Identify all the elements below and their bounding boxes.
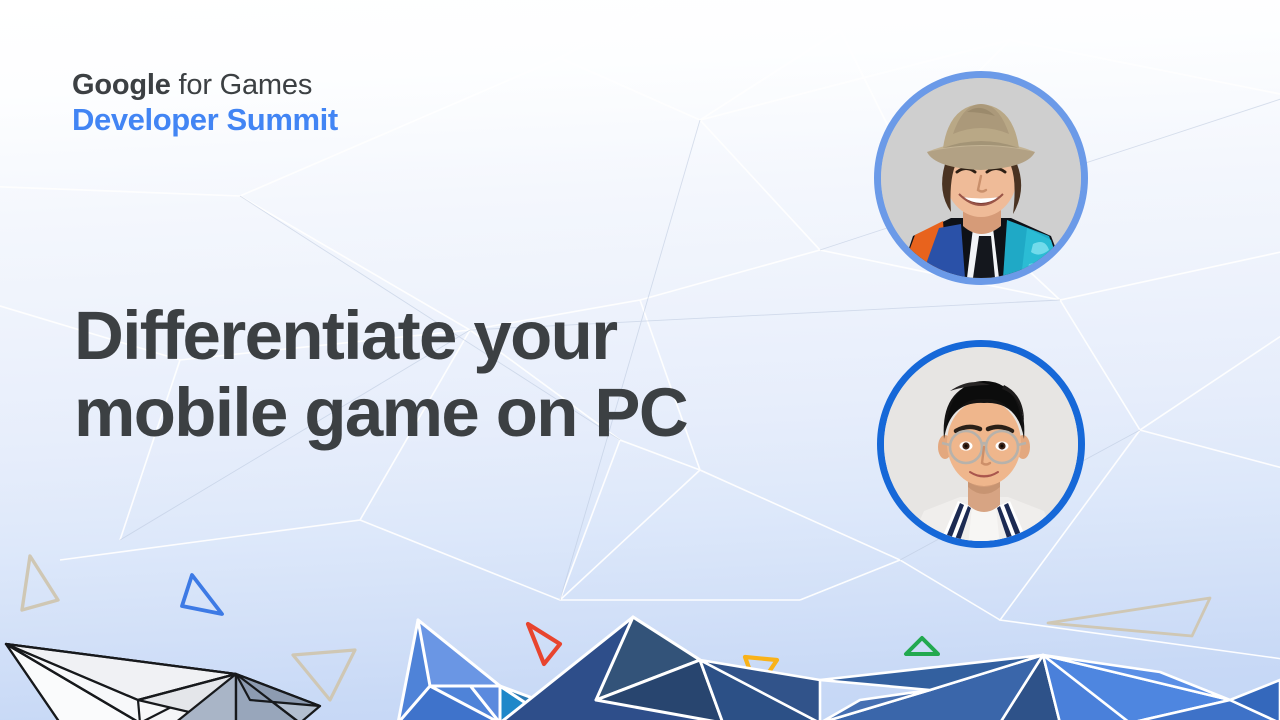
triangle-outline-beige-lower-left [293,650,355,700]
logo-word-google: Google [72,69,171,101]
avatar [874,71,1088,285]
logo-word-for-games: for Games [171,69,312,101]
triangle-outline-yellow [745,657,777,690]
page-title: Differentiate your mobile game on PC [74,298,714,451]
logo-line-developer-summit: Developer Summit [72,102,338,139]
event-logo: Google for Games Developer Summit [72,68,338,139]
polygon-mountain-white-edges [6,644,320,720]
polygon-mountain-blue-right [700,655,1280,720]
triangle-outline-green [906,638,938,654]
avatar [877,340,1085,548]
triangle-outline-red [528,624,560,664]
triangle-outline-beige-left [22,556,58,610]
polygon-mountain-blue-center [398,617,800,720]
triangle-outline-blue [182,575,222,614]
triangle-outline-beige-right [1048,598,1210,636]
polygon-mountain-white [6,644,320,720]
page-title-line-1: Differentiate your [74,297,616,374]
page-title-line-2: mobile game on PC [74,374,687,451]
logo-line-google-for-games: Google for Games [72,68,338,102]
title-slide: Google for Games Developer Summit Differ… [0,0,1280,720]
